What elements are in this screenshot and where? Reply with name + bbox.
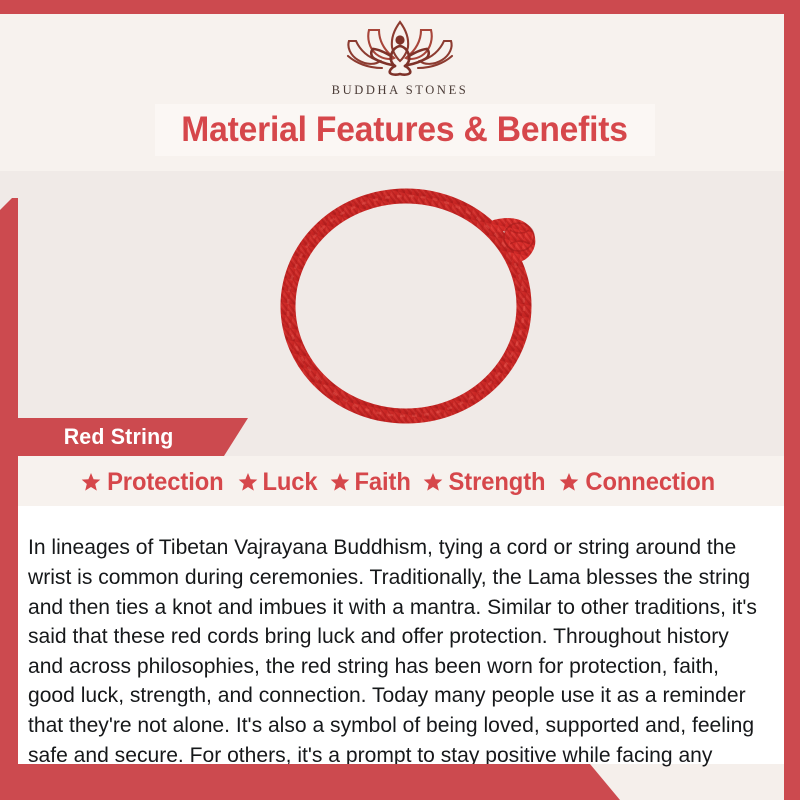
benefit-label: Strength <box>449 468 546 497</box>
page-title: Material Features & Benefits <box>182 110 629 150</box>
lotus-meditation-figure-icon <box>334 16 466 82</box>
benefit-item-luck: Luck <box>233 468 324 497</box>
ribbon-label: Red String <box>64 424 174 450</box>
description-text: In lineages of Tibetan Vajrayana Buddhis… <box>28 533 763 799</box>
brand-name: BUDDHA STONES <box>0 83 800 98</box>
frame-right-border <box>784 0 800 800</box>
benefit-label: Faith <box>354 468 410 497</box>
benefit-item-protection: Protection <box>76 468 232 497</box>
red-string-bracelet-image <box>238 170 588 430</box>
star-icon <box>238 472 258 492</box>
benefit-label: Connection <box>586 468 716 497</box>
frame-top-border <box>0 0 800 14</box>
infographic-page: BUDDHA STONES Material Features & Benefi… <box>0 0 800 800</box>
title-banner: Material Features & Benefits <box>155 104 655 156</box>
brand-logo: BUDDHA STONES <box>0 16 800 98</box>
frame-left-accent-band <box>0 198 18 446</box>
benefit-item-faith: Faith <box>325 468 417 497</box>
frame-bottom-band <box>0 764 620 800</box>
description-panel: In lineages of Tibetan Vajrayana Buddhis… <box>18 506 784 764</box>
product-ribbon: Red String <box>0 418 248 456</box>
benefit-item-strength: Strength <box>418 468 553 497</box>
benefits-list: Protection Luck Faith Strength Connectio… <box>0 461 800 503</box>
benefit-label: Luck <box>262 468 317 497</box>
star-icon <box>330 472 350 492</box>
star-icon <box>559 472 579 492</box>
star-icon <box>81 472 101 492</box>
benefit-item-connection: Connection <box>554 468 724 497</box>
benefit-label: Protection <box>107 468 223 497</box>
star-icon <box>423 472 443 492</box>
